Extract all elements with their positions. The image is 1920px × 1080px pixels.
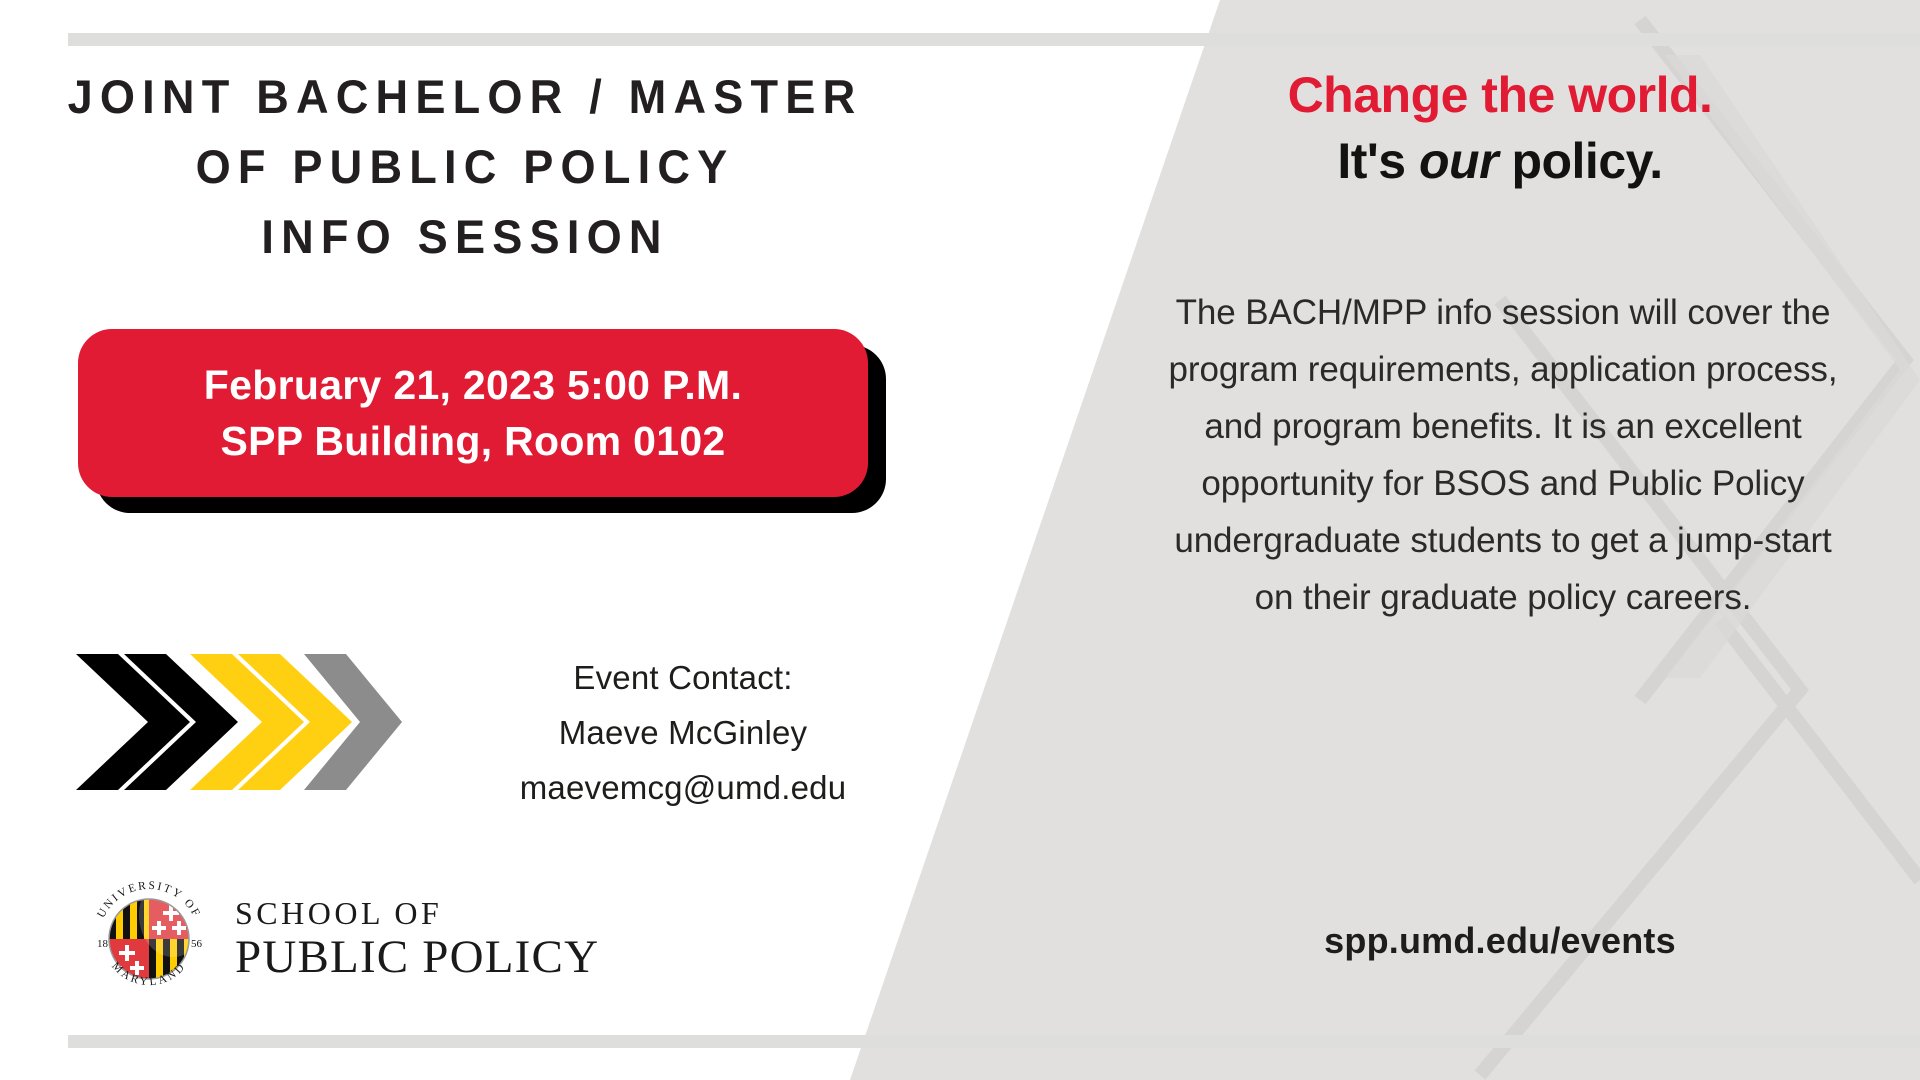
contact-label: Event Contact: — [436, 650, 930, 705]
badge-body: February 21, 2023 5:00 P.M. SPP Building… — [78, 329, 868, 497]
headline-line-1: JOINT BACHELOR / MASTER — [19, 62, 912, 132]
tagline-line-2: It's our policy. — [1150, 128, 1850, 194]
logo-line-school-of: SCHOOL OF — [235, 897, 599, 929]
logo-wordmark: SCHOOL OF PUBLIC POLICY — [235, 897, 599, 981]
contact-row: Event Contact: Maeve McGinley maevemcg@u… — [0, 648, 930, 815]
badge-date-time: February 21, 2023 5:00 P.M. — [204, 357, 742, 413]
left-column: JOINT BACHELOR / MASTER OF PUBLIC POLICY… — [0, 0, 960, 1080]
badge-location: SPP Building, Room 0102 — [220, 413, 725, 469]
tagline-line-1: Change the world. — [1150, 62, 1850, 128]
tagline-post: policy. — [1498, 133, 1663, 189]
headline-line-2: OF PUBLIC POLICY — [19, 132, 912, 202]
chevron-arrows-graphic — [72, 648, 406, 796]
svg-text:18: 18 — [97, 938, 109, 950]
umd-seal-icon: UNIVERSITY OF MARYLAND 18 56 — [85, 875, 213, 1003]
event-datetime-badge: February 21, 2023 5:00 P.M. SPP Building… — [78, 329, 898, 514]
event-flyer: JOINT BACHELOR / MASTER OF PUBLIC POLICY… — [0, 0, 1920, 1080]
contact-email[interactable]: maevemcg@umd.edu — [436, 760, 930, 815]
right-column: Change the world. It's our policy. The B… — [1150, 0, 1850, 1080]
logo-line-public-policy: PUBLIC POLICY — [235, 934, 599, 981]
tagline-pre: It's — [1337, 133, 1419, 189]
umd-spp-logo: UNIVERSITY OF MARYLAND 18 56 SCHOOL OF P… — [85, 875, 599, 1003]
tagline: Change the world. It's our policy. — [1150, 62, 1850, 194]
events-url[interactable]: spp.umd.edu/events — [1150, 920, 1850, 962]
contact-name: Maeve McGinley — [436, 705, 930, 760]
session-description: The BACH/MPP info session will cover the… — [1158, 284, 1848, 626]
tagline-emphasis: our — [1419, 133, 1498, 189]
page-title: JOINT BACHELOR / MASTER OF PUBLIC POLICY… — [19, 62, 912, 272]
contact-text-block: Event Contact: Maeve McGinley maevemcg@u… — [436, 648, 930, 815]
headline-line-3: INFO SESSION — [19, 202, 912, 272]
svg-text:56: 56 — [191, 938, 203, 950]
